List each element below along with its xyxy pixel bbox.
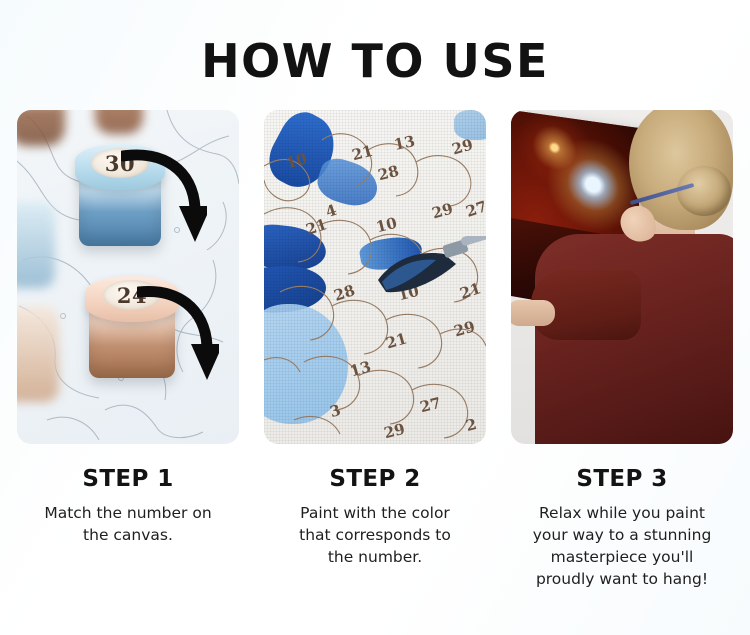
pot-number-label: 30	[91, 148, 149, 178]
step-1-description: Match the number on the canvas.	[17, 502, 239, 546]
page-title: HOW TO USE	[0, 34, 750, 88]
step-1-title: STEP 1	[17, 466, 239, 492]
step-2-image: 10 21 13 28 29 27 4 21 10 29 28 21 13 29…	[264, 110, 486, 444]
background-pot-4	[17, 306, 59, 402]
step-1-image: 30 24	[17, 110, 239, 444]
step-3-image	[511, 110, 733, 444]
paint-pot-30: 30	[79, 144, 161, 256]
step-3-description: Relax while you paint your way to a stun…	[511, 502, 733, 590]
paintbrush-icon	[360, 236, 486, 308]
how-to-use-page: HOW TO USE	[0, 0, 750, 635]
step-2-title: STEP 2	[264, 466, 486, 492]
forearm	[511, 300, 555, 326]
step-card-3: STEP 3 Relax while you paint your way to…	[511, 110, 733, 590]
background-pot-2	[95, 110, 143, 134]
step-3-title: STEP 3	[511, 466, 733, 492]
step-card-2: 10 21 13 28 29 27 4 21 10 29 28 21 13 29…	[264, 110, 486, 590]
background-pot-3	[17, 202, 55, 288]
step-2-description: Paint with the color that corresponds to…	[264, 502, 486, 568]
background-pot-1	[17, 110, 65, 146]
pot-number-text: 24	[117, 283, 147, 308]
pot-number-label: 24	[103, 280, 161, 310]
step-card-1: 30 24 STE	[17, 110, 239, 590]
paint-pot-24: 24	[89, 276, 175, 394]
pot-number-text: 30	[105, 151, 135, 176]
hair-bun	[677, 166, 731, 216]
steps-container: 30 24 STE	[17, 110, 733, 590]
